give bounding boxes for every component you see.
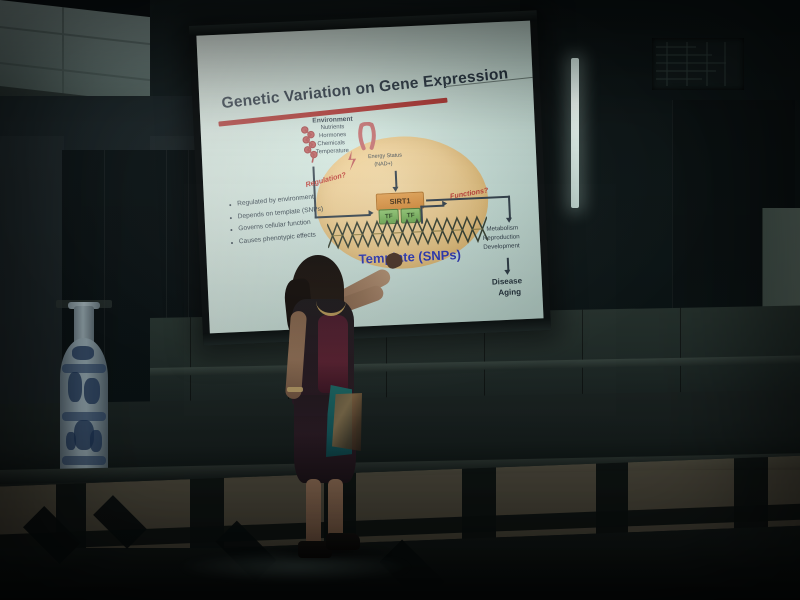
vase-neck xyxy=(74,306,94,342)
lecture-hall-photo: Genetic Variation on Gene Expression Env… xyxy=(0,0,800,600)
consequence-0: Disease xyxy=(492,277,523,287)
vase-body xyxy=(60,338,108,484)
presenter-dress-maroon-panel xyxy=(318,315,348,393)
presenter-leg-left xyxy=(306,479,321,549)
presenter-dress-pattern-panel xyxy=(332,393,362,451)
molecule-chain-icon xyxy=(299,124,327,167)
consequence-arrowhead xyxy=(504,270,510,275)
presenter-pointing-at-slide xyxy=(276,245,396,560)
bolt-arrow-icon xyxy=(344,150,361,171)
blue-and-white-porcelain-floor-vase xyxy=(60,306,108,484)
chromosome-icon xyxy=(356,122,380,157)
consequence-1: Aging xyxy=(498,288,521,298)
wall-vent-grille xyxy=(652,38,744,90)
energy-status-line-2: (NAD+) xyxy=(374,161,392,168)
vertical-fluorescent-light xyxy=(571,58,579,208)
presenter-bracelet xyxy=(287,387,303,392)
presenter-shoe-right xyxy=(326,533,360,550)
outcome-2: Development xyxy=(483,243,520,252)
